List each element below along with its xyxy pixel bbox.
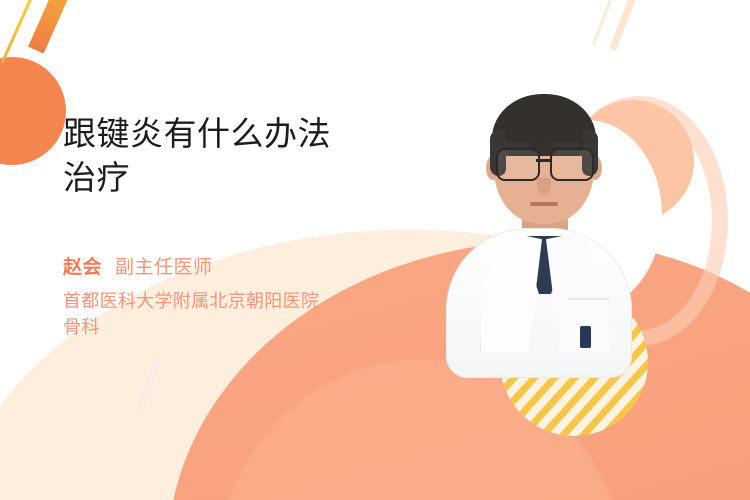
doctor-portrait bbox=[436, 86, 640, 358]
portrait-eyebrow-left bbox=[500, 142, 530, 147]
portrait-mouth bbox=[530, 202, 558, 206]
portrait-eyebrow-right bbox=[550, 142, 580, 147]
doctor-professional-title: 副主任医师 bbox=[115, 252, 213, 279]
doctor-identity-line: 赵会 副主任医师 bbox=[63, 252, 423, 279]
doctor-affiliation: 首都医科大学附属北京朝阳医院 骨科 bbox=[63, 288, 423, 341]
page-title: 跟键炎有什么办法 治疗 bbox=[63, 112, 423, 200]
text-content-block: 跟键炎有什么办法 治疗 赵会 副主任医师 首都医科大学附属北京朝阳医院 骨科 bbox=[63, 112, 423, 341]
orange-circle-decoration bbox=[0, 57, 66, 165]
portrait-id-badge bbox=[580, 326, 591, 348]
glasses-lens-left bbox=[496, 148, 540, 181]
medical-video-cover-card: 跟键炎有什么办法 治疗 赵会 副主任医师 首都医科大学附属北京朝阳医院 骨科 bbox=[0, 0, 750, 500]
orange-thick-stripe-icon bbox=[28, 0, 87, 54]
portrait-nose bbox=[537, 178, 551, 194]
cream-stripe-a-icon bbox=[609, 0, 647, 51]
glasses-lens-right bbox=[550, 148, 594, 181]
doctor-name: 赵会 bbox=[63, 252, 102, 279]
glasses-icon bbox=[492, 148, 596, 178]
glasses-bridge bbox=[536, 159, 550, 162]
